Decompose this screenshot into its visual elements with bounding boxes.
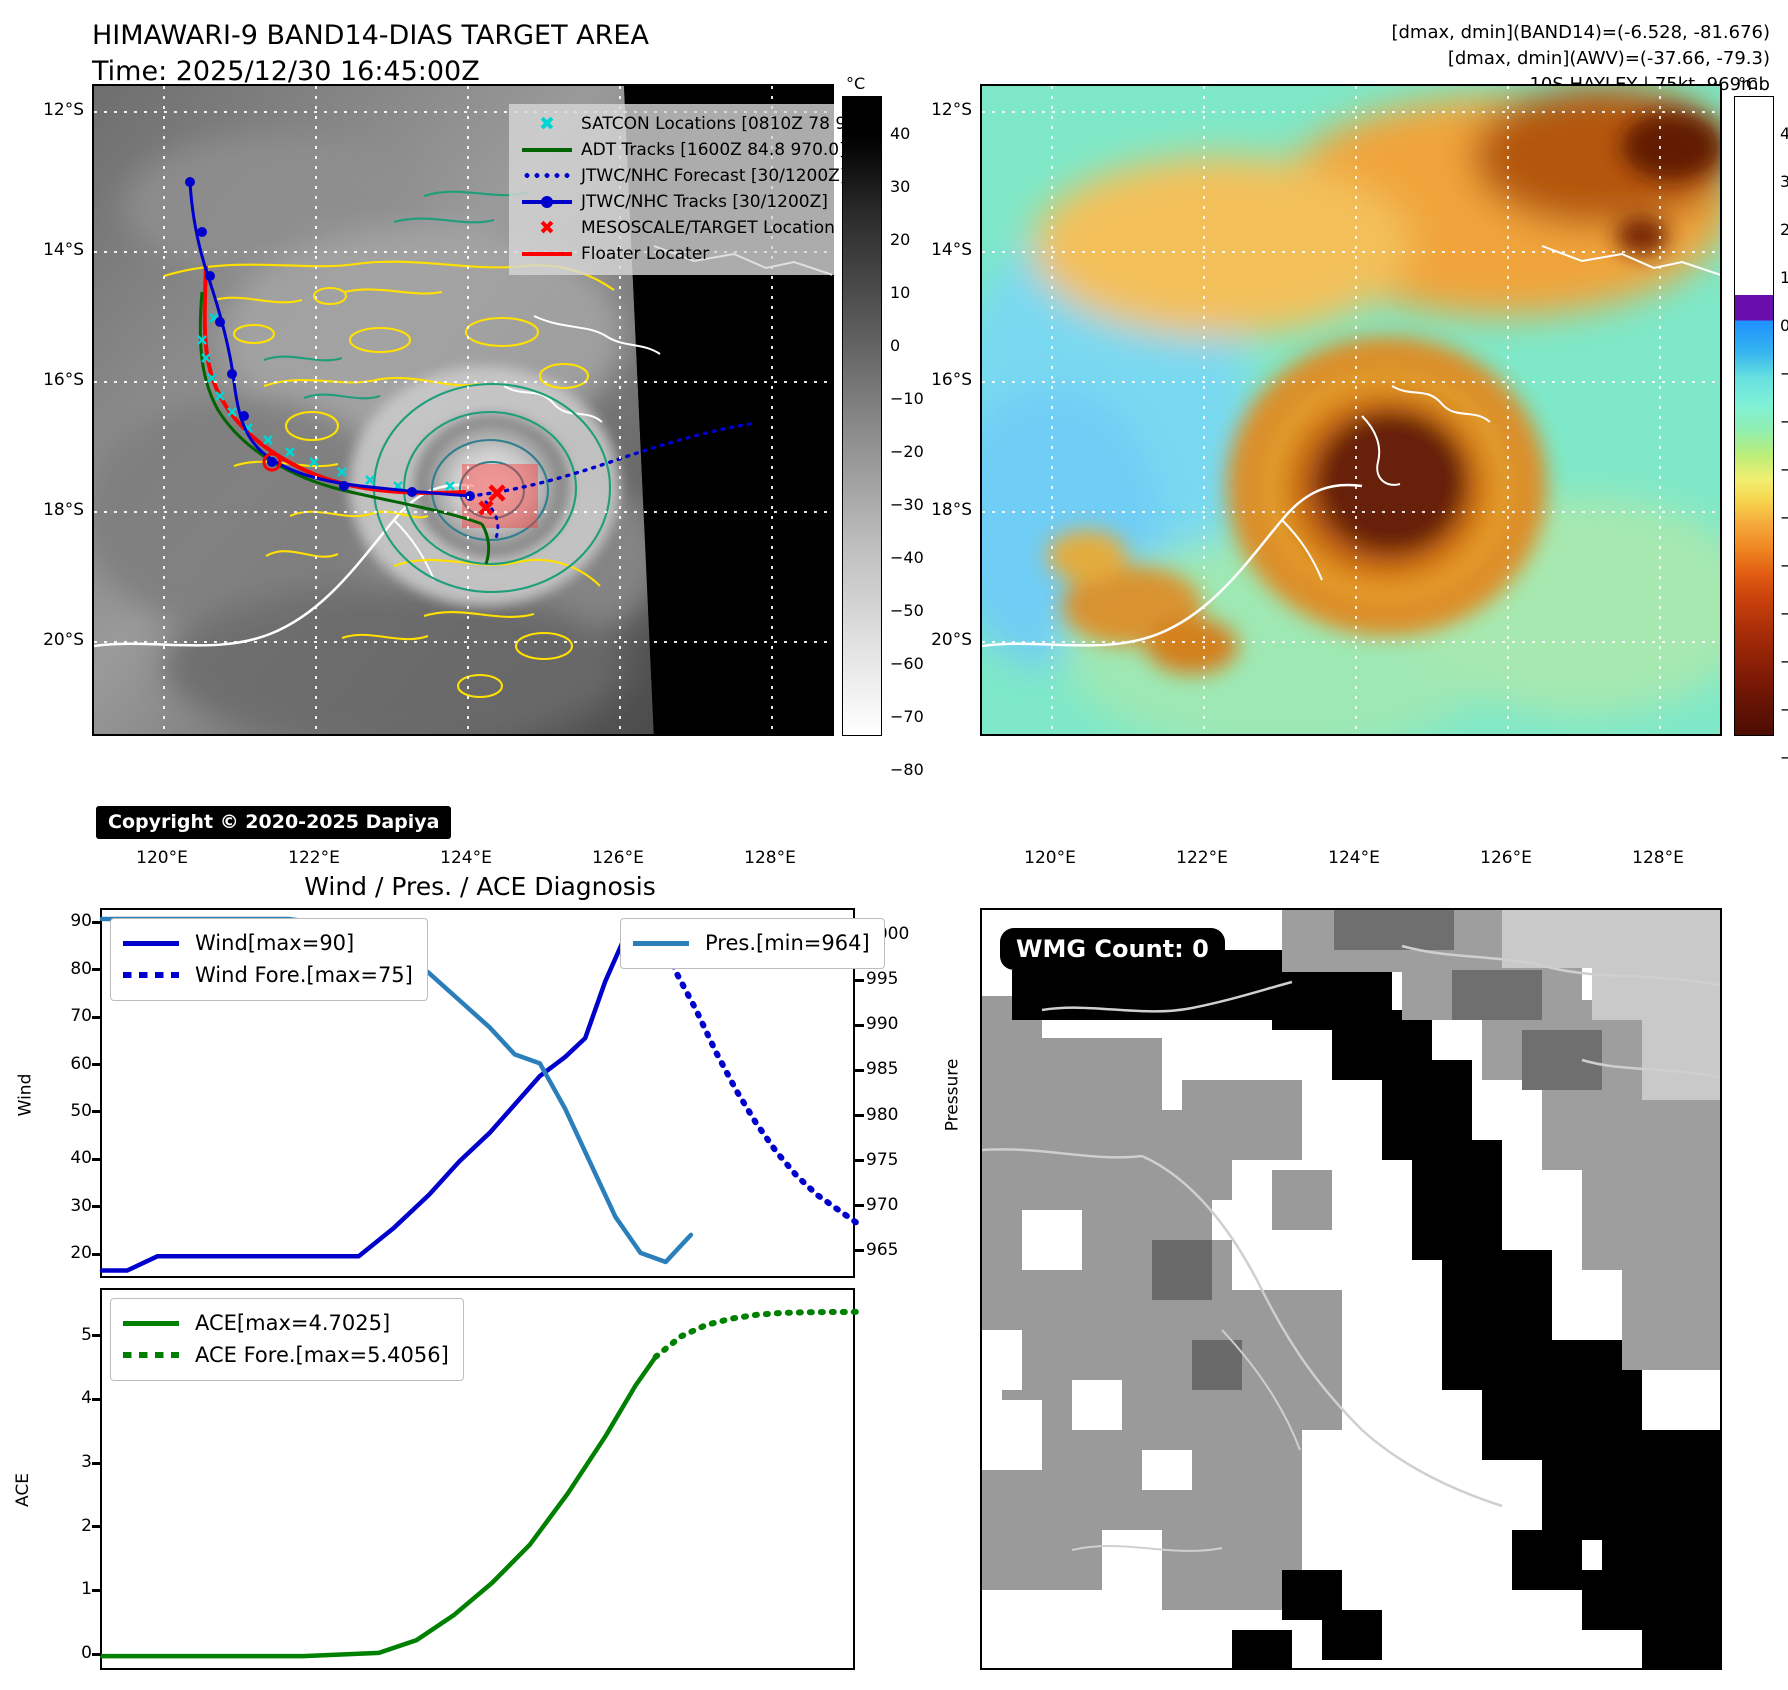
dotted-line-icon: [123, 972, 185, 978]
solid-line-icon: [519, 142, 575, 159]
wind-tick-mark: [92, 968, 101, 971]
pressure-tick: 970: [866, 1195, 898, 1215]
awv-lat-tick: 18°S: [908, 500, 972, 520]
pressure-tick-mark: [855, 1204, 864, 1207]
awv-lon-tick: 128°E: [1608, 848, 1708, 868]
ir-lon-tick: 120°E: [112, 848, 212, 868]
ace-tick-mark: [92, 1334, 101, 1337]
awv-colorbar-tick: −90: [1780, 748, 1788, 767]
ir-colorbar-tick: −80: [890, 760, 924, 779]
diagnosis-chart-title: Wind / Pres. / ACE Diagnosis: [100, 872, 860, 901]
ir-lon-tick: 128°E: [720, 848, 820, 868]
ace-chart-legend: ACE[max=4.7025] ACE Fore.[max=5.4056]: [110, 1298, 464, 1381]
ace-tick-mark: [92, 1653, 101, 1656]
pressure-axis-label: Pressure: [942, 1059, 962, 1132]
wind-tick: 30: [54, 1196, 92, 1216]
awv-colorbar-tick: −30: [1780, 460, 1788, 479]
ir-colorbar-tick: 10: [890, 283, 910, 302]
dotted-line-icon: [123, 1352, 185, 1358]
pressure-tick: 980: [866, 1105, 898, 1125]
copyright-badge: Copyright © 2020-2025 Dapiya: [96, 806, 451, 839]
ir-lat-tick: 18°S: [20, 500, 84, 520]
ir-colorbar-tick: −10: [890, 389, 924, 408]
ir-colorbar-tick: 40: [890, 124, 910, 143]
awv-colorbar-tick: 10: [1780, 268, 1788, 287]
ir-colorbar-tick: 30: [890, 177, 910, 196]
ace-tick-mark: [92, 1398, 101, 1401]
ir-colorbar: [842, 96, 882, 736]
solid-line-icon: [123, 1321, 185, 1326]
awv-colorbar-tick: 30: [1780, 172, 1788, 191]
legend-row-tracks: JTWC/NHC Tracks [30/1200Z]: [519, 189, 824, 215]
awv-lon-tick: 124°E: [1304, 848, 1404, 868]
awv-colorbar-tick: 40: [1780, 124, 1788, 143]
dmax-dmin-band14: [dmax, dmin](BAND14)=(-6.528, -81.676): [1391, 20, 1770, 46]
dmax-dmin-awv: [dmax, dmin](AWV)=(-37.66, -79.3): [1391, 46, 1770, 72]
wind-tick: 20: [54, 1243, 92, 1263]
legend-label: Wind Fore.[max=75]: [195, 963, 413, 987]
legend-row-ace: ACE[max=4.7025]: [123, 1307, 449, 1339]
ace-tick-mark: [92, 1525, 101, 1528]
ir-lon-tick: 122°E: [264, 848, 364, 868]
page-title: HIMAWARI-9 BAND14-DIAS TARGET AREA Time:…: [92, 18, 649, 89]
wmg-graphics: [982, 910, 1722, 1670]
legend-row-satcon: ✖ SATCON Locations [0810Z 78 969]: [519, 111, 824, 137]
awv-colorbar-tick: −50: [1780, 556, 1788, 575]
pressure-tick: 965: [866, 1240, 898, 1260]
ace-tick: 4: [60, 1388, 92, 1408]
awv-lon-tick: 126°E: [1456, 848, 1556, 868]
pressure-tick-mark: [855, 1024, 864, 1027]
pressure-tick-mark: [855, 1114, 864, 1117]
legend-label: SATCON Locations [0810Z 78 969]: [581, 116, 874, 133]
wind-tick: 70: [54, 1006, 92, 1026]
legend-label: Pres.[min=964]: [705, 931, 870, 955]
ace-tick: 1: [60, 1579, 92, 1599]
solid-line-icon: [519, 246, 575, 263]
title-line-1: HIMAWARI-9 BAND14-DIAS TARGET AREA: [92, 18, 649, 54]
solid-line-icon: [633, 941, 695, 946]
pressure-tick: 995: [866, 969, 898, 989]
legend-label: ACE[max=4.7025]: [195, 1311, 390, 1335]
pressure-tick-mark: [855, 979, 864, 982]
pressure-chart-legend: Pres.[min=964]: [620, 918, 885, 969]
wind-tick-mark: [92, 1205, 101, 1208]
awv-colorbar-tick: −80: [1780, 700, 1788, 719]
pressure-tick-mark: [855, 1249, 864, 1252]
ir-map-legend: ✖ SATCON Locations [0810Z 78 969] ADT Tr…: [509, 104, 834, 275]
ace-axis-label: ACE: [13, 1473, 33, 1507]
awv-colorbar-tick: 20: [1780, 220, 1788, 239]
ir-colorbar-tick: −40: [890, 548, 924, 567]
pressure-tick: 990: [866, 1014, 898, 1034]
awv-colorbar: [1734, 96, 1774, 736]
awv-lon-tick: 120°E: [1000, 848, 1100, 868]
ir-lon-tick: 124°E: [416, 848, 516, 868]
awv-lat-tick: 14°S: [908, 240, 972, 260]
legend-row-wind: Wind[max=90]: [123, 927, 413, 959]
ir-colorbar-tick: −50: [890, 601, 924, 620]
ace-tick: 2: [60, 1516, 92, 1536]
ace-tick: 3: [60, 1452, 92, 1472]
awv-colorbar-tick: −60: [1780, 604, 1788, 623]
wind-tick: 40: [54, 1148, 92, 1168]
legend-row-pressure: Pres.[min=964]: [633, 927, 870, 959]
awv-colorbar-tick: −20: [1780, 412, 1788, 431]
awv-colorbar-tick: −40: [1780, 508, 1788, 527]
awv-colorbar-tick: −70: [1780, 652, 1788, 671]
awv-lat-tick: 20°S: [908, 630, 972, 650]
wind-chart-legend: Wind[max=90] Wind Fore.[max=75]: [110, 918, 428, 1001]
ir-lon-tick: 126°E: [568, 848, 668, 868]
legend-label: ACE Fore.[max=5.4056]: [195, 1343, 449, 1367]
legend-label: ADT Tracks [1600Z 84.8 970.0]: [581, 142, 846, 159]
awv-colorbar-tick: −10: [1780, 364, 1788, 383]
ace-tick: 0: [60, 1643, 92, 1663]
wind-tick: 80: [54, 959, 92, 979]
line-marker-icon: [519, 195, 575, 209]
legend-label: JTWC/NHC Tracks [30/1200Z]: [581, 194, 828, 211]
ir-colorbar-tick: −70: [890, 707, 924, 726]
awv-colorbar-tick: 0: [1780, 316, 1788, 335]
wind-tick: 60: [54, 1054, 92, 1074]
wind-tick-mark: [92, 1158, 101, 1161]
legend-row-floater: Floater Locater: [519, 241, 824, 267]
ir-colorbar-tick: 0: [890, 336, 900, 355]
x-marker-icon: ✖: [519, 115, 575, 134]
legend-row-ace-forecast: ACE Fore.[max=5.4056]: [123, 1339, 449, 1371]
ir-lat-tick: 14°S: [20, 240, 84, 260]
legend-label: JTWC/NHC Forecast [30/1200Z]: [581, 168, 846, 185]
wmg-count-badge: WMG Count: 0: [1000, 928, 1225, 970]
wind-tick: 50: [54, 1101, 92, 1121]
legend-label: Floater Locater: [581, 246, 709, 263]
legend-row-mesoscale: ✖ MESOSCALE/TARGET Location: [519, 215, 824, 241]
pressure-tick: 985: [866, 1059, 898, 1079]
awv-map-graphics: [982, 86, 1722, 736]
solid-line-icon: [123, 941, 185, 946]
legend-label: MESOSCALE/TARGET Location: [581, 220, 835, 237]
awv-colorbar-unit: °C: [1738, 74, 1757, 93]
legend-row-adt: ADT Tracks [1600Z 84.8 970.0]: [519, 137, 824, 163]
legend-row-forecast: JTWC/NHC Forecast [30/1200Z]: [519, 163, 824, 189]
awv-lon-tick: 122°E: [1152, 848, 1252, 868]
awv-lat-tick: 16°S: [908, 370, 972, 390]
ir-colorbar-tick: −60: [890, 654, 924, 673]
pressure-tick-mark: [855, 1069, 864, 1072]
legend-label: Wind[max=90]: [195, 931, 354, 955]
ir-lat-tick: 12°S: [20, 100, 84, 120]
wind-tick-mark: [92, 1110, 101, 1113]
ir-colorbar-unit: °C: [846, 74, 865, 93]
awv-satellite-map[interactable]: [980, 84, 1722, 736]
wmg-map[interactable]: [980, 908, 1722, 1670]
wind-tick-mark: [92, 1253, 101, 1256]
ir-lat-tick: 20°S: [20, 630, 84, 650]
awv-lat-tick: 12°S: [908, 100, 972, 120]
pressure-tick-mark: [855, 1159, 864, 1162]
ir-lat-tick: 16°S: [20, 370, 84, 390]
wind-tick-mark: [92, 1016, 101, 1019]
dotted-line-icon: [519, 168, 575, 185]
wind-tick: 90: [54, 911, 92, 931]
x-marker-icon: ✖: [519, 219, 575, 238]
pressure-tick: 975: [866, 1150, 898, 1170]
wind-tick-mark: [92, 1063, 101, 1066]
ace-tick: 5: [60, 1325, 92, 1345]
legend-row-wind-forecast: Wind Fore.[max=75]: [123, 959, 413, 991]
ir-colorbar-tick: −20: [890, 442, 924, 461]
wind-tick-mark: [92, 921, 101, 924]
ace-tick-mark: [92, 1462, 101, 1465]
ace-tick-mark: [92, 1589, 101, 1592]
wind-axis-label: Wind: [15, 1074, 35, 1117]
